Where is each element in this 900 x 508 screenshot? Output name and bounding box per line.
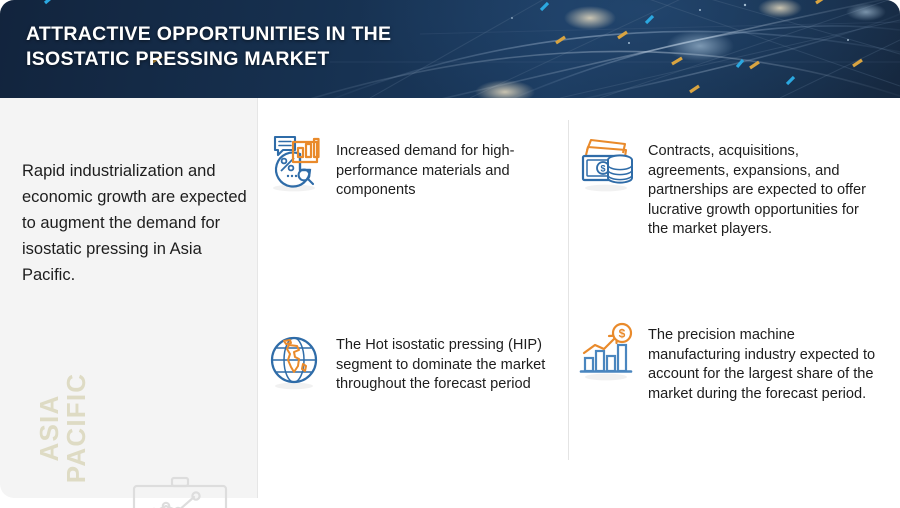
money-coins-icon: $ <box>574 130 640 196</box>
column-divider <box>568 120 569 460</box>
growth-chart-dollar-icon: $ <box>574 320 640 386</box>
feature-item-hip-segment: The Hot isostatic pressing (HIP) segment… <box>262 330 562 396</box>
feature-text: The precision machine manufacturing indu… <box>648 320 880 404</box>
features-area: Increased demand for high-performance ma… <box>258 98 900 498</box>
svg-text:$: $ <box>619 327 626 341</box>
asia-pacific-watermark: ASIA PACIFIC <box>36 358 76 498</box>
svg-text:$: $ <box>600 164 605 174</box>
feature-text: The Hot isostatic pressing (HIP) segment… <box>336 330 554 395</box>
feature-item-demand: Increased demand for high-performance ma… <box>262 130 562 201</box>
presentation-board-chart-icon <box>122 468 242 508</box>
lead-paragraph: Rapid industrialization and economic gro… <box>22 158 250 288</box>
globe-icon <box>262 330 328 396</box>
header-banner: ATTRACTIVE OPPORTUNITIES IN THE ISOSTATI… <box>0 0 900 98</box>
infographic-page: ATTRACTIVE OPPORTUNITIES IN THE ISOSTATI… <box>0 0 900 508</box>
feature-item-contracts: $ Contracts, acquisitions, agreements, e… <box>574 130 892 240</box>
page-title: ATTRACTIVE OPPORTUNITIES IN THE ISOSTATI… <box>26 22 546 72</box>
left-summary-panel: Rapid industrialization and economic gro… <box>0 98 258 498</box>
demand-analytics-icon <box>262 130 328 196</box>
feature-text: Contracts, acquisitions, agreements, exp… <box>648 130 880 240</box>
feature-item-precision-machine: $ The precision machine manufacturing in… <box>574 320 892 404</box>
feature-text: Increased demand for high-performance ma… <box>336 130 554 201</box>
